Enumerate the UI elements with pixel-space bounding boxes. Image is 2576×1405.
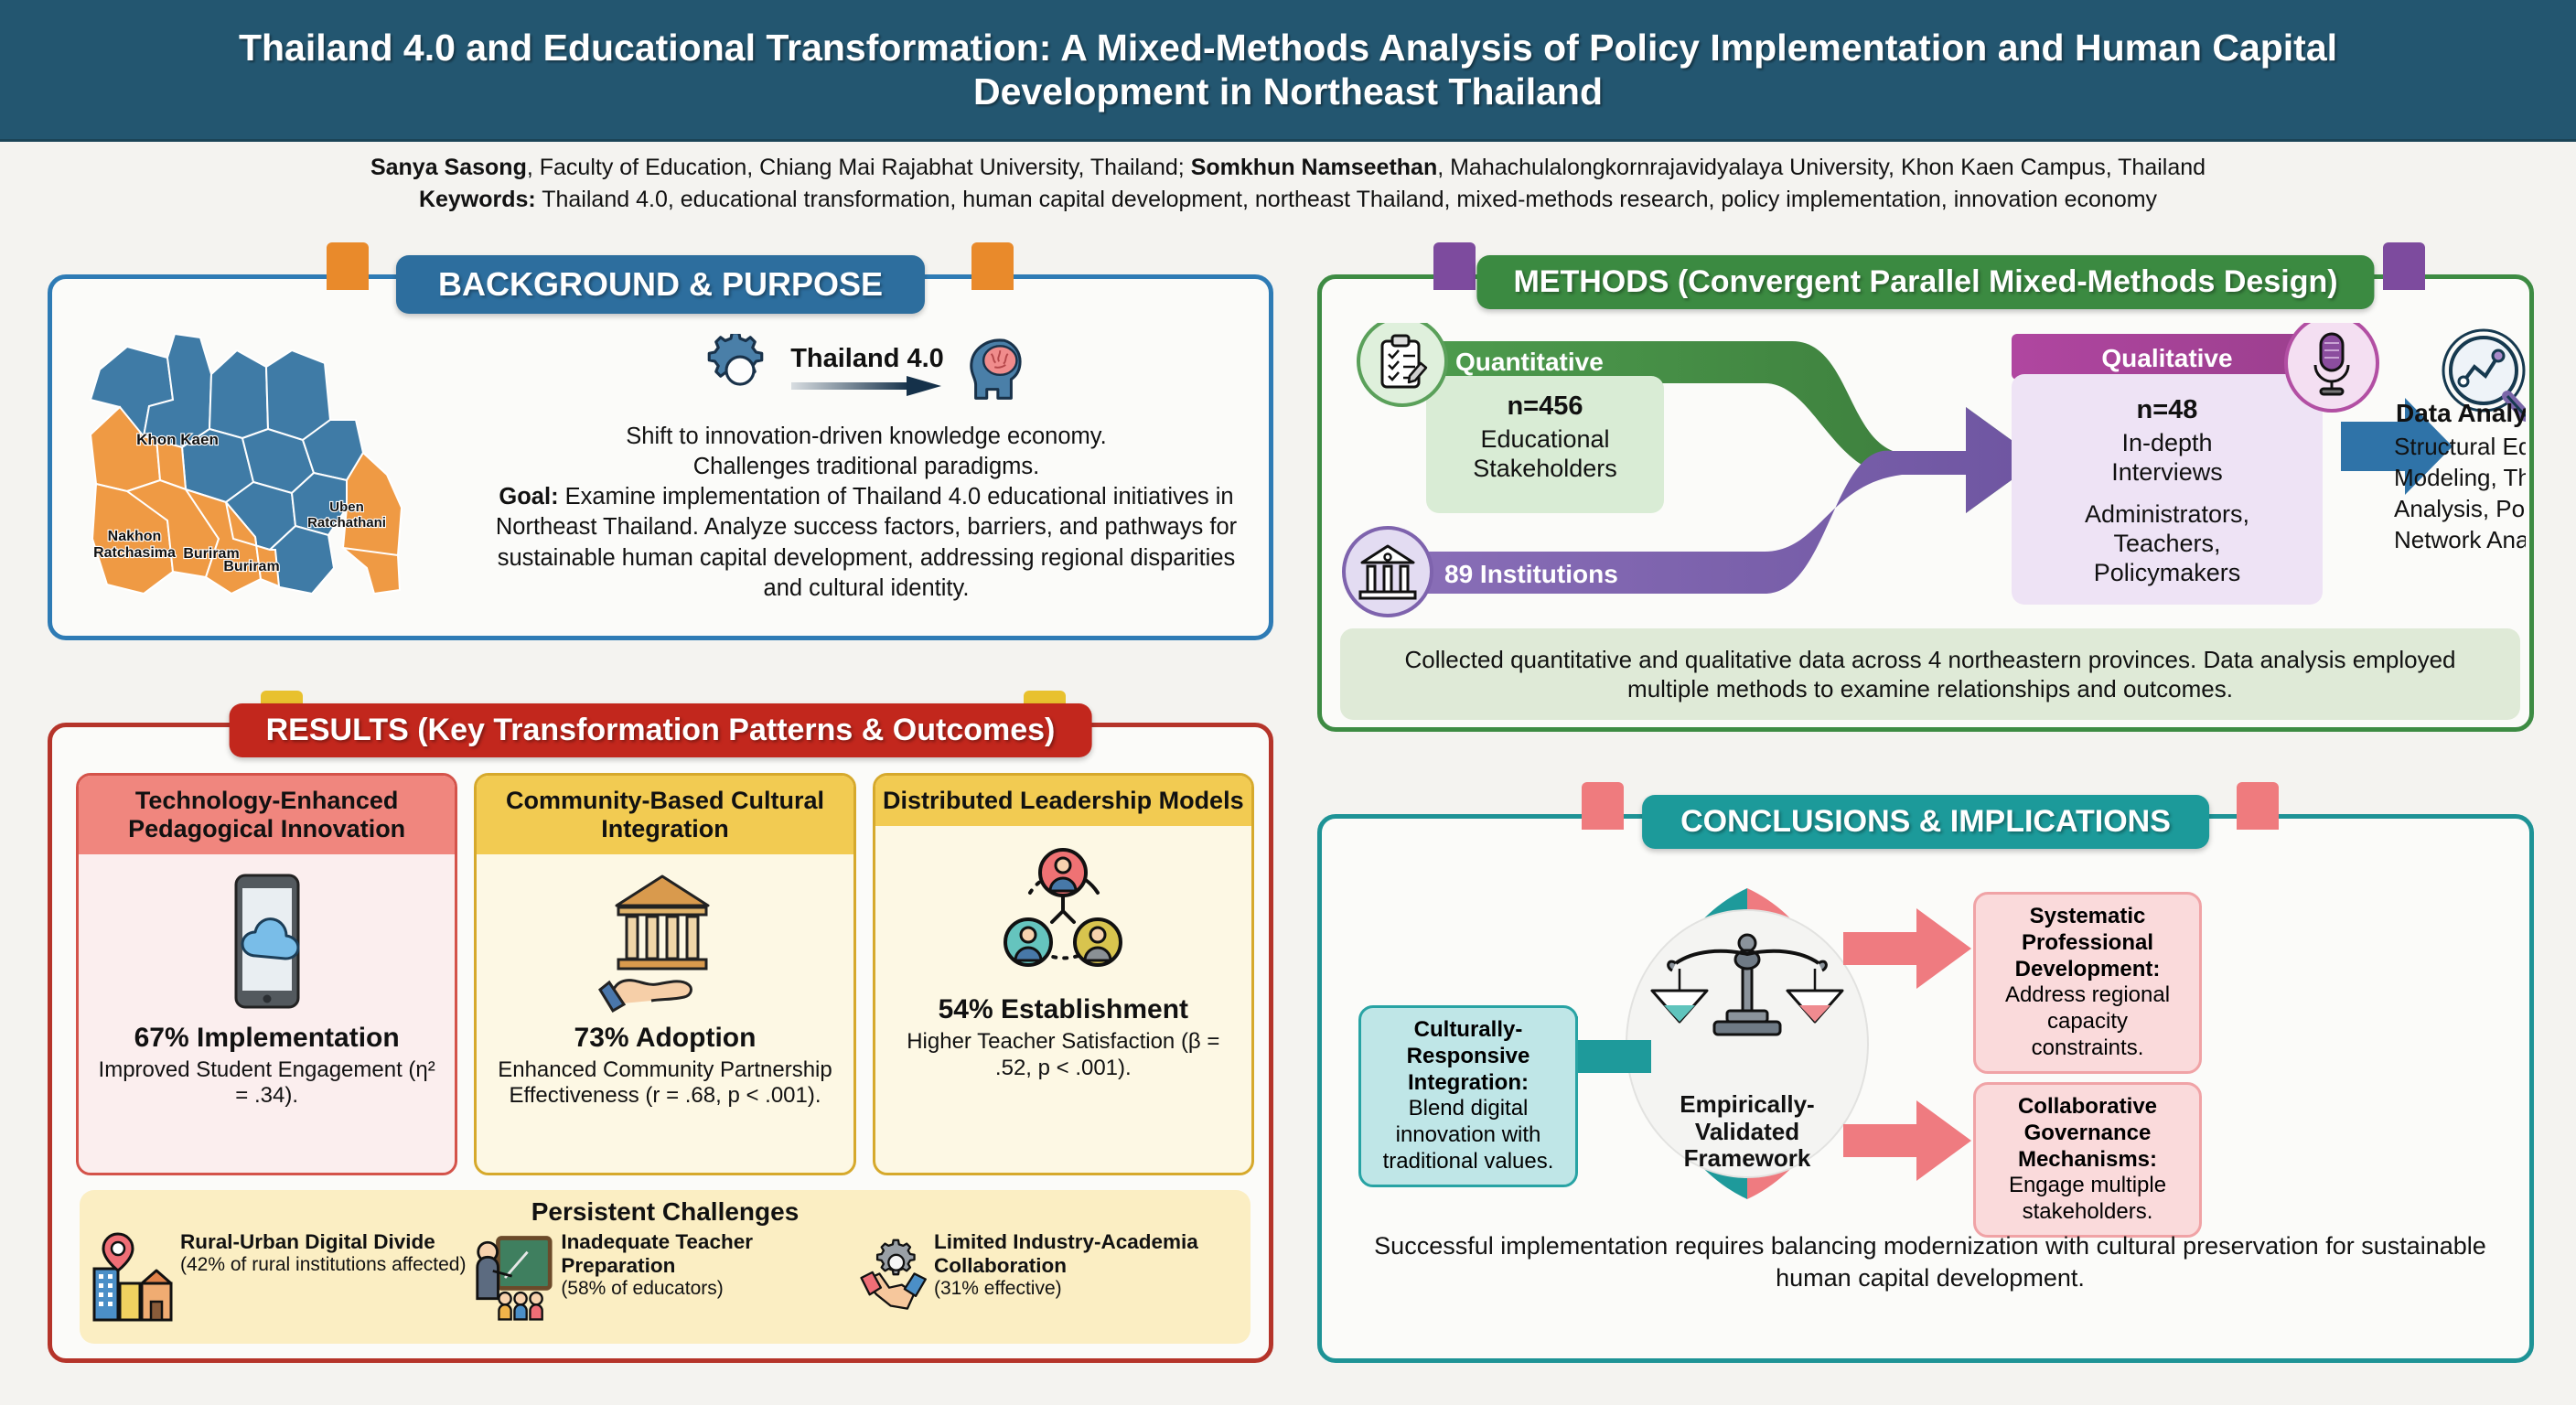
background-heading: BACKGROUND & PURPOSE bbox=[396, 255, 925, 314]
qualitative-detail-1: In-depth bbox=[2121, 429, 2212, 456]
result-card-technology[interactable]: Technology-Enhanced Pedagogical Innovati… bbox=[76, 773, 457, 1175]
background-body-text: Shift to innovation-driven knowledge eco… bbox=[482, 422, 1250, 604]
methods-heading: METHODS (Convergent Parallel Mixed-Metho… bbox=[1476, 255, 2374, 309]
data-analysis-line-3: Analysis, Policy bbox=[2394, 495, 2526, 522]
header-accent-right-purple bbox=[2383, 242, 2425, 290]
result-card-desc: Higher Teacher Satisfaction (β = .52, p … bbox=[886, 1029, 1240, 1082]
data-analysis-line-4: Network Analysis bbox=[2394, 526, 2526, 553]
result-card-title: Technology-Enhanced Pedagogical Innovati… bbox=[79, 776, 455, 854]
keywords-label: Keywords: bbox=[419, 187, 536, 212]
challenge-text: Inadequate Teacher Preparation (58% of e… bbox=[561, 1230, 855, 1300]
challenge-text: Rural-Urban Digital Divide (42% of rural… bbox=[180, 1230, 466, 1276]
background-goal: Goal: Examine implementation of Thailand… bbox=[482, 482, 1250, 604]
conclusion-box-cultural-integration[interactable]: Culturally-Responsive Integration: Blend… bbox=[1358, 1005, 1578, 1187]
poster-title-bar: Thailand 4.0 and Educational Transformat… bbox=[0, 0, 2576, 142]
header-accent-left-orange bbox=[327, 242, 369, 290]
goal-text: Examine implementation of Thailand 4.0 e… bbox=[496, 484, 1237, 600]
conclusion-box-title: Culturally-Responsive Integration: bbox=[1407, 1017, 1530, 1095]
conclusion-box-title: Systematic Professional Development: bbox=[2015, 904, 2161, 981]
result-card-stat: 73% Adoption bbox=[574, 1023, 757, 1054]
thailand40-label: Thailand 4.0 bbox=[790, 344, 944, 374]
keywords-line: Keywords: Thailand 4.0, educational tran… bbox=[419, 187, 2157, 213]
goal-label: Goal: bbox=[499, 484, 558, 509]
map-svg: Khon Kaen Nakhon Ratchasima Buriram Buri… bbox=[72, 319, 466, 621]
institutions-label: 89 Institutions bbox=[1444, 560, 1618, 588]
conclusion-box-title: Collaborative Governance Mechanisms: bbox=[2018, 1094, 2157, 1172]
teacher-board-icon bbox=[474, 1230, 553, 1325]
header-accent-right-salmon bbox=[2237, 782, 2279, 830]
conclusion-box-professional-development[interactable]: Systematic Professional Development: Add… bbox=[1973, 892, 2202, 1074]
conclusions-diagram: Empirically- Validated Framework Cultura… bbox=[1331, 861, 2529, 1227]
arrow-to-governance bbox=[1843, 1100, 1971, 1181]
challenges-row: Rural-Urban Digital Divide (42% of rural… bbox=[89, 1230, 1241, 1325]
result-card-title: Community-Based Cultural Integration bbox=[477, 776, 853, 854]
header-accent-right-orange bbox=[971, 242, 1014, 290]
conclusion-box-text: Address regional capacity constraints. bbox=[1989, 982, 2186, 1061]
map-label-uben-1: Uben bbox=[329, 499, 364, 515]
conclusion-box-governance[interactable]: Collaborative Governance Mechanisms: Eng… bbox=[1973, 1082, 2202, 1238]
northeast-thailand-map: Khon Kaen Nakhon Ratchasima Buriram Buri… bbox=[72, 319, 466, 621]
conclusions-heading: CONCLUSIONS & IMPLICATIONS bbox=[1642, 795, 2209, 849]
result-card-stat: 67% Implementation bbox=[134, 1023, 400, 1054]
challenge-detail: (58% of educators) bbox=[561, 1278, 723, 1299]
author-2-affil: , Mahachulalongkornrajavidyalaya Univers… bbox=[1437, 155, 2206, 180]
header-accent-left-purple bbox=[1433, 242, 1476, 290]
authors-keywords-block: Sanya Sasong, Faculty of Education, Chia… bbox=[0, 145, 2576, 223]
challenge-detail: (42% of rural institutions affected) bbox=[180, 1254, 466, 1275]
methods-flow-svg: Quantitative n=456 Educational Stakehold… bbox=[1335, 323, 2526, 623]
background-line-2: Challenges traditional paradigms. bbox=[482, 452, 1250, 482]
challenge-item[interactable]: Rural-Urban Digital Divide (42% of rural… bbox=[89, 1230, 470, 1325]
data-analysis-title: Data Analysis: bbox=[2396, 399, 2526, 427]
header-accent-left-salmon bbox=[1582, 782, 1624, 830]
conclusion-box-text: Engage multiple stakeholders. bbox=[1989, 1173, 2186, 1226]
arrow-to-professional-development bbox=[1843, 908, 1971, 989]
background-purpose-panel: BACKGROUND & PURPOSE bbox=[48, 274, 1273, 640]
result-card-body: 73% Adoption Enhanced Community Partners… bbox=[477, 854, 853, 1173]
results-cards: Technology-Enhanced Pedagogical Innovati… bbox=[76, 773, 1254, 1175]
quantitative-n: n=456 bbox=[1507, 391, 1583, 421]
result-card-body: 67% Implementation Improved Student Enga… bbox=[79, 854, 455, 1173]
authors-line: Sanya Sasong, Faculty of Education, Chia… bbox=[370, 155, 2206, 181]
city-pin-icon bbox=[89, 1230, 173, 1325]
head-brain-icon bbox=[958, 334, 1029, 407]
quantitative-detail-1: Educational bbox=[1480, 425, 1609, 453]
data-analysis-line-1: Structural Equation bbox=[2394, 433, 2526, 460]
data-analysis-line-2: Modeling, Thematic bbox=[2394, 464, 2526, 491]
background-right-column: Thailand 4.0 Shift to innovation- bbox=[482, 325, 1250, 604]
result-card-desc: Enhanced Community Partnership Effective… bbox=[488, 1057, 842, 1110]
bank-hand-icon bbox=[596, 863, 734, 1019]
challenge-detail: (31% effective) bbox=[934, 1278, 1062, 1299]
methods-flow-diagram: Quantitative n=456 Educational Stakehold… bbox=[1335, 323, 2526, 623]
background-line-1: Shift to innovation-driven knowledge eco… bbox=[482, 422, 1250, 452]
qualitative-label: Qualitative bbox=[2101, 344, 2232, 372]
challenge-item[interactable]: Limited Industry-Academia Collaboration … bbox=[860, 1230, 1241, 1325]
poster-title: Thailand 4.0 and Educational Transformat… bbox=[213, 26, 2363, 114]
conclusions-note: Successful implementation requires balan… bbox=[1358, 1230, 2502, 1293]
results-heading: RESULTS (Key Transformation Patterns & O… bbox=[230, 703, 1092, 757]
thailand40-flow: Thailand 4.0 bbox=[482, 325, 1250, 416]
framework-center-label: Empirically- Validated Framework bbox=[1656, 1091, 1839, 1173]
qualitative-n: n=48 bbox=[2137, 395, 2198, 424]
qualitative-roles-3: Policymakers bbox=[2094, 559, 2241, 586]
result-card-leadership[interactable]: Distributed Leadership Models bbox=[873, 773, 1254, 1175]
result-card-desc: Improved Student Engagement (η² = .34). bbox=[90, 1057, 444, 1110]
result-card-stat: 54% Establishment bbox=[939, 994, 1188, 1025]
map-label-uben-2: Ratchathani bbox=[307, 515, 386, 531]
challenge-title: Rural-Urban Digital Divide bbox=[180, 1230, 435, 1253]
conclusion-box-text: Blend digital innovation with traditiona… bbox=[1374, 1096, 1562, 1174]
persistent-challenges-box: Persistent Challenges Rural-Urban D bbox=[80, 1190, 1250, 1344]
challenge-item[interactable]: Inadequate Teacher Preparation (58% of e… bbox=[474, 1230, 855, 1325]
quantitative-detail-2: Stakeholders bbox=[1473, 455, 1617, 482]
result-card-body: 54% Establishment Higher Teacher Satisfa… bbox=[875, 826, 1251, 1173]
author-2-name: Somkhun Namseethan bbox=[1191, 155, 1438, 180]
three-people-network-icon bbox=[990, 835, 1136, 991]
challenge-text: Limited Industry-Academia Collaboration … bbox=[934, 1230, 1241, 1300]
challenges-title: Persistent Challenges bbox=[89, 1197, 1241, 1227]
qualitative-detail-2: Interviews bbox=[2111, 458, 2223, 486]
author-1-affil: , Faculty of Education, Chiang Mai Rajab… bbox=[527, 155, 1191, 180]
poster-root: Thailand 4.0 and Educational Transformat… bbox=[0, 0, 2576, 1405]
challenge-title: Inadequate Teacher Preparation bbox=[561, 1230, 753, 1277]
map-label-buriram-2: Buriram bbox=[223, 559, 279, 574]
quantitative-label: Quantitative bbox=[1455, 348, 1604, 376]
conclusions-panel: CONCLUSIONS & IMPLICATIONS bbox=[1317, 814, 2534, 1363]
tablet-cloud-icon bbox=[212, 863, 322, 1019]
arrow-right-icon bbox=[789, 374, 945, 398]
map-label-nakhon-2: Ratchasima bbox=[93, 545, 176, 561]
qualitative-roles-2: Teachers, bbox=[2113, 530, 2220, 557]
qualitative-roles-1: Administrators, bbox=[2085, 500, 2249, 528]
methods-note: Collected quantitative and qualitative d… bbox=[1340, 628, 2520, 720]
keywords-value: Thailand 4.0, educational transformation… bbox=[536, 187, 2157, 212]
methods-panel: METHODS (Convergent Parallel Mixed-Metho… bbox=[1317, 274, 2534, 732]
map-label-nakhon-1: Nakhon bbox=[108, 529, 162, 544]
map-label-khon-kaen: Khon Kaen bbox=[136, 431, 219, 448]
result-card-title: Distributed Leadership Models bbox=[875, 776, 1251, 826]
results-panel: RESULTS (Key Transformation Patterns & O… bbox=[48, 723, 1273, 1363]
clipboard-icon bbox=[1382, 336, 1426, 387]
gear-icon bbox=[703, 334, 777, 407]
result-card-community[interactable]: Community-Based Cultural Integration bbox=[474, 773, 855, 1175]
challenge-title: Limited Industry-Academia Collaboration bbox=[934, 1230, 1198, 1277]
author-1-name: Sanya Sasong bbox=[370, 155, 527, 180]
framework-center-text: Empirically- Validated Framework bbox=[1656, 1091, 1839, 1173]
handshake-gear-icon bbox=[860, 1230, 927, 1325]
